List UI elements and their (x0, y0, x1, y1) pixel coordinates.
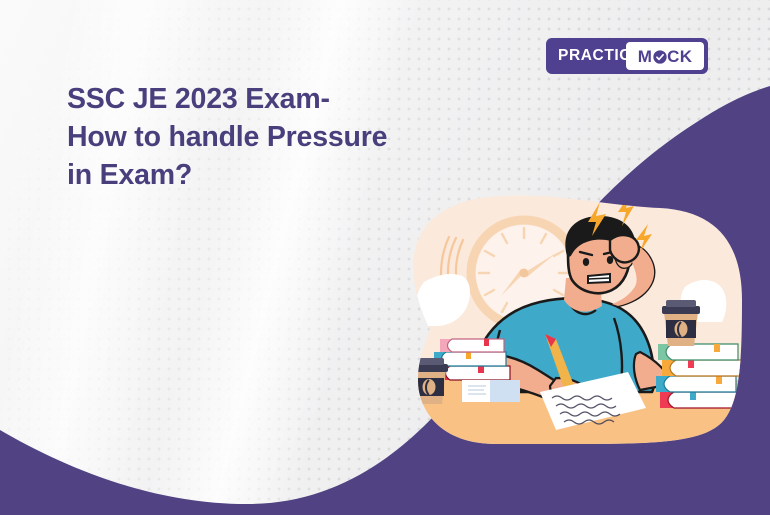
stressed-student-illustration (0, 0, 770, 515)
coffee-cup-right (662, 300, 700, 346)
book-stack-right (656, 344, 742, 408)
headline-line-3: in Exam? (67, 156, 487, 194)
logo-mock-plate: M CK (626, 42, 704, 70)
practicemock-logo[interactable]: PRACTICE M CK (546, 38, 708, 74)
headline-line-1: SSC JE 2023 Exam- (67, 80, 487, 118)
promo-banner: SSC JE 2023 Exam- How to handle Pressure… (0, 0, 770, 515)
page-title: SSC JE 2023 Exam- How to handle Pressure… (67, 80, 487, 195)
headline-line-2: How to handle Pressure (67, 118, 487, 156)
logo-mock-prefix: M (638, 48, 652, 65)
logo-mock-suffix: CK (667, 48, 692, 65)
coffee-cup-left (410, 358, 448, 404)
check-icon (653, 50, 667, 64)
logo-mock-text: M CK (638, 48, 693, 65)
